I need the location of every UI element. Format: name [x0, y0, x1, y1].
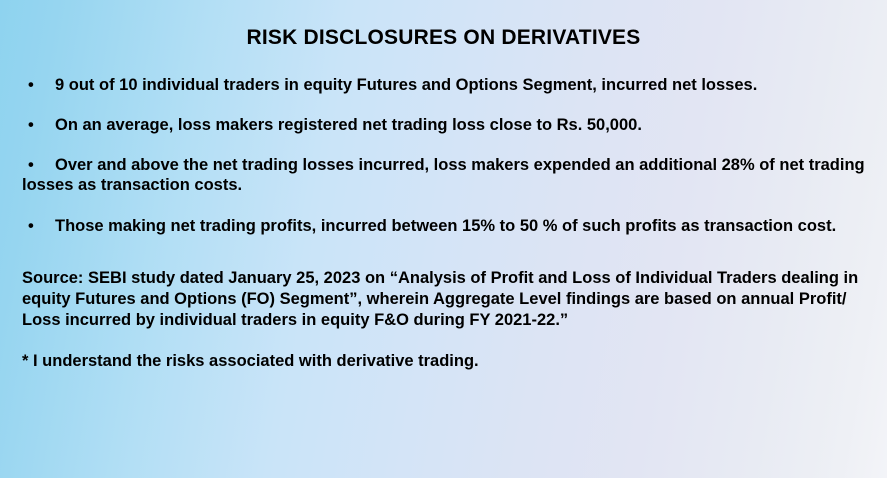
bullet-icon: • [28, 75, 34, 95]
risk-bullet-list: • 9 out of 10 individual traders in equi… [22, 75, 865, 236]
source-citation: Source: SEBI study dated January 25, 202… [22, 268, 865, 331]
list-item: • Over and above the net trading losses … [22, 155, 865, 195]
panel-content: RISK DISCLOSURES ON DERIVATIVES • 9 out … [0, 0, 887, 478]
list-item: • Those making net trading profits, incu… [22, 216, 865, 236]
bullet-icon: • [28, 216, 34, 236]
risk-acknowledgement-text: * I understand the risks associated with… [22, 351, 865, 371]
list-item-text: Over and above the net trading losses in… [22, 155, 865, 195]
list-item-text: Those making net trading profits, incurr… [22, 216, 865, 236]
bullet-icon: • [28, 115, 34, 135]
list-item: • 9 out of 10 individual traders in equi… [22, 75, 865, 95]
list-item: • On an average, loss makers registered … [22, 115, 865, 135]
list-item-text: 9 out of 10 individual traders in equity… [22, 75, 865, 95]
risk-disclosure-panel: RISK DISCLOSURES ON DERIVATIVES • 9 out … [0, 0, 887, 478]
page-title: RISK DISCLOSURES ON DERIVATIVES [22, 0, 865, 49]
bullet-icon: • [28, 155, 34, 175]
list-item-text: On an average, loss makers registered ne… [22, 115, 865, 135]
